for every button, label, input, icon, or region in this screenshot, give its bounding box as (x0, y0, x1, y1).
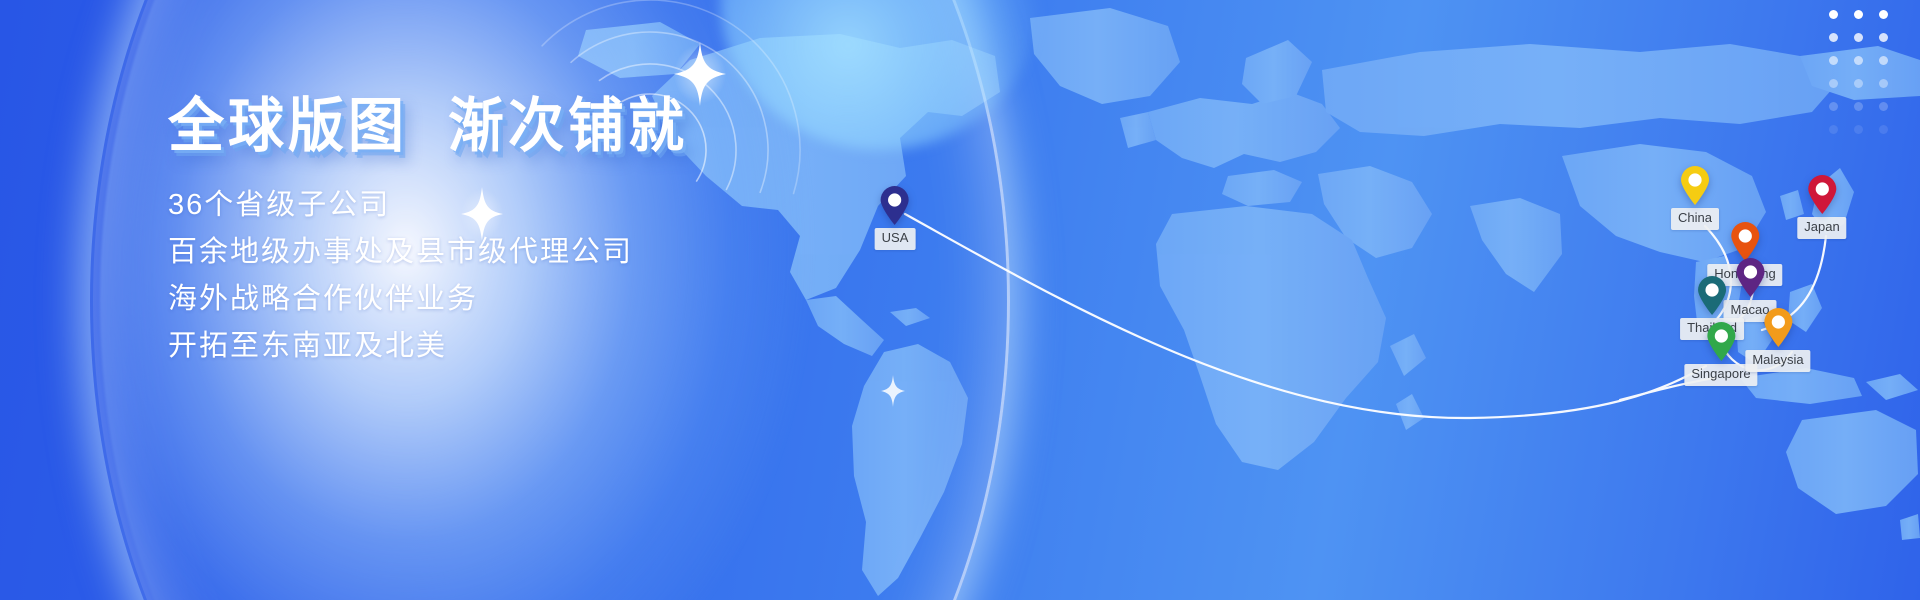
pin-icon-japan (1807, 175, 1837, 215)
body-line-3: 海外战略合作伙伴业务 (168, 276, 888, 323)
marker-label-wrap-usa: USA (875, 226, 916, 250)
pin-icon-china (1680, 166, 1710, 206)
headline-part-2: 渐次铺就 (448, 92, 688, 159)
body-line-2: 百余地级办事处及县市级代理公司 (168, 229, 888, 276)
marker-label-wrap-japan: Japan (1797, 215, 1846, 239)
pin-icon-hongkong (1730, 222, 1760, 262)
pin-icon-malaysia (1763, 308, 1793, 348)
map-marker-japan[interactable]: Japan (1797, 175, 1846, 239)
headline-part-1: 全球版图 (168, 92, 408, 159)
map-marker-malaysia[interactable]: Malaysia (1745, 308, 1810, 372)
global-map-banner: 全球版图渐次铺就 36个省级子公司 百余地级办事处及县市级代理公司 海外战略合作… (0, 0, 1920, 600)
marker-label-japan: Japan (1797, 217, 1846, 239)
banner-copy: 全球版图渐次铺就 36个省级子公司 百余地级办事处及县市级代理公司 海外战略合作… (168, 96, 888, 370)
map-marker-usa[interactable]: USA (875, 186, 916, 250)
map-marker-china[interactable]: China (1671, 166, 1719, 230)
marker-label-malaysia: Malaysia (1745, 350, 1810, 372)
marker-label-wrap-malaysia: Malaysia (1745, 348, 1810, 372)
marker-label-usa: USA (875, 228, 916, 250)
pin-icon-thailand (1697, 276, 1727, 316)
pin-icon-singapore (1706, 322, 1736, 362)
body-line-1: 36个省级子公司 (168, 182, 888, 229)
pin-icon-usa (880, 186, 910, 226)
banner-body-lines: 36个省级子公司 百余地级办事处及县市级代理公司 海外战略合作伙伴业务 开拓至东… (168, 182, 888, 370)
page-title: 全球版图渐次铺就 (168, 96, 888, 155)
body-line-4: 开拓至东南亚及北美 (168, 323, 888, 370)
